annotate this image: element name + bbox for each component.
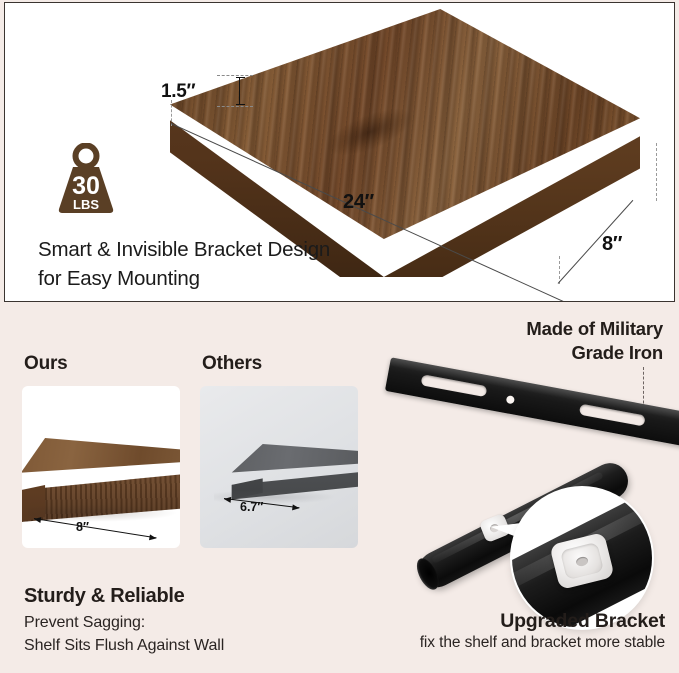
shelf-shadow-ours: [28, 504, 178, 522]
product-infographic: 1.5″ 24″ 8″ 30 LBS Smart & Invisible Bra…: [0, 0, 679, 673]
bracket-slot-2: [579, 404, 646, 427]
bracket-slot-1: [421, 374, 488, 397]
hero-headline-line1: Smart & Invisible Bracket Design: [38, 235, 458, 264]
thickness-tick-top: [217, 75, 253, 76]
comparison-card-ours: 8″: [22, 386, 180, 548]
bracket-screw-hole: [506, 395, 515, 404]
sturdy-title: Sturdy & Reliable: [24, 583, 354, 609]
sturdy-subtext: Prevent Sagging: Shelf Sits Flush Agains…: [24, 611, 354, 657]
thickness-measure-bar: [239, 77, 240, 105]
dimension-depth-label: 8″: [602, 233, 622, 256]
comparison-label-ours: Ours: [24, 353, 68, 375]
military-iron-line1: Made of Military: [360, 317, 663, 341]
dimension-thickness-label: 1.5″: [161, 81, 195, 103]
comparison-cards: 8″ 6.7″: [22, 386, 342, 551]
bracket-block: Made of Military Grade Iron Upgraded Bra…: [360, 305, 679, 673]
comparison-label-others: Others: [202, 353, 262, 375]
comparison-block: Ours Others 8″: [22, 353, 342, 551]
weight-capacity-icon: 30 LBS: [53, 143, 119, 215]
hero-panel: 1.5″ 24″ 8″ 30 LBS Smart & Invisible Bra…: [4, 2, 675, 302]
comparison-headers: Ours Others: [22, 353, 342, 383]
shelf-shadow-others: [214, 490, 334, 504]
hero-headline: Smart & Invisible Bracket Design for Eas…: [38, 235, 458, 293]
bracket-caption-title: Upgraded Bracket: [360, 610, 665, 633]
thickness-tick-bottom: [217, 106, 253, 107]
weight-unit: LBS: [73, 197, 99, 212]
dimension-label-ours: 8″: [76, 520, 89, 534]
bottom-section: Ours Others 8″: [0, 305, 679, 673]
depth-leader-line-top: [656, 143, 657, 201]
sturdy-text-block: Sturdy & Reliable Prevent Sagging: Shelf…: [24, 583, 354, 657]
rod-open-end: [412, 555, 443, 593]
bracket-caption: Upgraded Bracket fix the shelf and brack…: [360, 610, 679, 652]
hero-headline-line2: for Easy Mounting: [38, 264, 458, 293]
dimension-label-others: 6.7″: [240, 500, 263, 514]
dimension-length-label: 24″: [343, 191, 374, 214]
sturdy-subtext-line1: Prevent Sagging:: [24, 611, 354, 634]
military-iron-title: Made of Military Grade Iron: [360, 317, 679, 365]
comparison-card-others: 6.7″: [200, 386, 358, 548]
weight-value: 30: [72, 172, 100, 200]
shelf-slab-ours: [22, 438, 180, 514]
magnifier-detail-circle: [512, 488, 652, 628]
bracket-wall-plate: [385, 357, 679, 451]
sturdy-subtext-line2: Shelf Sits Flush Against Wall: [24, 634, 354, 657]
bracket-caption-sub: fix the shelf and bracket more stable: [360, 634, 665, 652]
